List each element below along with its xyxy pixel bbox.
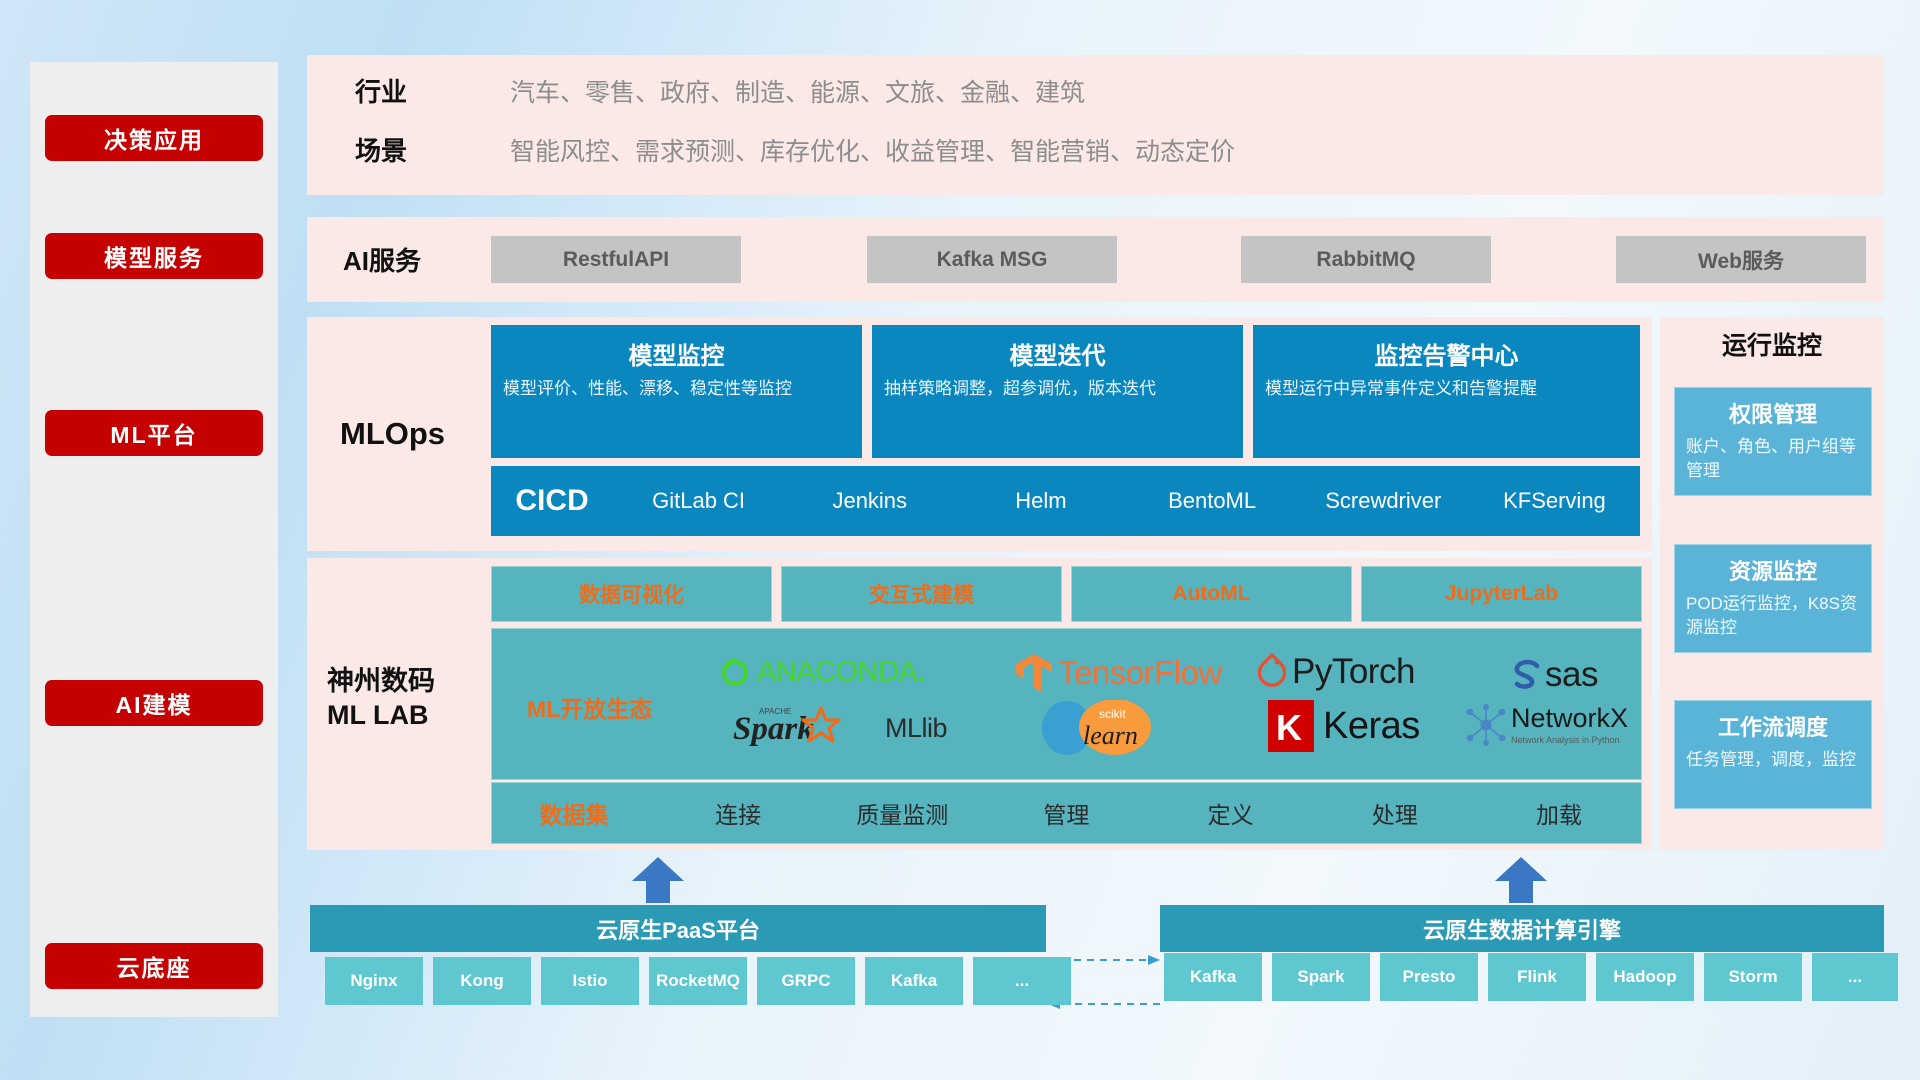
chip-label: Presto [1403,968,1456,987]
dataset-label: 数据集 [492,796,656,830]
engine-chip-kafka[interactable]: Kafka [1164,953,1262,1001]
chip-label: Kafka [1190,968,1236,987]
card-desc: 抽样策略调整，超参调优，版本迭代 [884,378,1231,401]
chip-label: Istio [573,972,608,991]
dataset-item-quality-monitoring[interactable]: 质量监测 [820,796,984,830]
anaconda-icon [718,655,752,689]
ml-lab-tab-data-visualization[interactable]: 数据可视化 [491,566,772,622]
chip-label: Kafka [891,972,937,991]
sidebar-label: 云底座 [117,949,192,983]
card-title: 模型迭代 [872,336,1243,371]
tab-label: 数据可视化 [579,579,684,609]
dataset-item-management[interactable]: 管理 [984,796,1148,830]
card-title: 模型监控 [491,336,862,371]
ml-lab-line2: ML LAB [327,699,435,733]
paas-chip-grpc[interactable]: GRPC [757,957,855,1005]
ai-service-chip-web-service[interactable]: Web服务 [1616,236,1866,283]
chip-label: Storm [1728,968,1777,987]
cicd-item-jenkins[interactable]: Jenkins [784,489,955,513]
sas-logo: sas [1510,655,1598,695]
industry-values: 汽车、零售、政府、制造、能源、文旅、金融、建筑 [510,78,1085,108]
engine-chip-presto[interactable]: Presto [1380,953,1478,1001]
ai-service-chip-restfulapi[interactable]: RestfulAPI [491,236,741,283]
card-desc: 模型评价、性能、漂移、稳定性等监控 [503,378,850,401]
dataset-item-definition[interactable]: 定义 [1149,796,1313,830]
sidebar-label: AI建模 [116,686,193,720]
bar-label: 云原生数据计算引擎 [1423,913,1621,945]
engine-chip-flink[interactable]: Flink [1488,953,1586,1001]
card-title: 权限管理 [1675,397,1871,429]
monitoring-card-permission[interactable]: 权限管理 账户、角色、用户组等管理 [1674,387,1872,496]
mlops-label: MLOps [340,415,445,454]
sidebar-label: 模型服务 [104,239,204,273]
mlops-card-alert-center[interactable]: 监控告警中心 模型运行中异常事件定义和告警提醒 [1253,325,1640,458]
bar-label: 云原生PaaS平台 [596,913,760,945]
tensorflow-icon [1014,652,1054,694]
decision-layer-band [307,55,1884,195]
arrow-up-data-engine [1493,857,1549,903]
monitoring-card-resource[interactable]: 资源监控 POD运行监控，K8S资源监控 [1674,544,1872,653]
chip-label: Flink [1517,968,1557,987]
chip-label: Kong [460,972,503,991]
scenario-values: 智能风控、需求预测、库存优化、收益管理、智能营销、动态定价 [510,137,1235,167]
engine-chip-more[interactable]: ... [1812,953,1898,1001]
chip-label: Web服务 [1698,245,1784,275]
anaconda-wordmark: ANACONDA. [757,656,925,689]
sas-wordmark: sas [1545,655,1598,695]
sas-icon [1510,657,1544,693]
ml-lab-tab-jupyterlab[interactable]: JupyterLab [1361,566,1642,622]
keras-wordmark: Keras [1323,705,1420,748]
cicd-item-helm[interactable]: Helm [955,489,1126,513]
chip-label: RestfulAPI [563,248,669,272]
keras-icon: K [1268,700,1314,752]
paas-chip-more[interactable]: ... [973,957,1071,1005]
chip-label: RocketMQ [656,972,740,991]
cicd-row: CICD GitLab CI Jenkins Helm BentoML Scre… [491,466,1640,536]
dataset-item-connect[interactable]: 连接 [656,796,820,830]
svg-text:Spark: Spark [733,711,814,747]
anaconda-logo: ANACONDA. [718,655,925,689]
sidebar-item-model-service[interactable]: 模型服务 [45,233,263,279]
sidebar-label: ML平台 [110,416,197,450]
ml-ecosystem-label: ML开放生态 [527,690,652,724]
engine-chip-spark[interactable]: Spark [1272,953,1370,1001]
paas-chip-kong[interactable]: Kong [433,957,531,1005]
mllib-wordmark: MLlib [885,713,947,744]
data-engine-bar: 云原生数据计算引擎 [1160,905,1884,952]
ml-lab-tab-interactive-modeling[interactable]: 交互式建模 [781,566,1062,622]
cicd-item-gitlab-ci[interactable]: GitLab CI [613,489,784,513]
industry-label: 行业 [355,76,407,109]
ml-lab-label: 神州数码 ML LAB [327,665,435,733]
networkx-subtitle: Network Analysis in Python [1511,735,1628,745]
keras-logo: K Keras [1268,700,1420,752]
svg-text:K: K [1276,707,1302,748]
networkx-icon [1464,703,1508,747]
sidebar-item-cloud-foundation[interactable]: 云底座 [45,943,263,989]
chip-label: ... [1015,972,1029,991]
sidebar-item-ml-platform[interactable]: ML平台 [45,410,263,456]
monitoring-title: 运行监控 [1660,326,1884,362]
ai-service-chip-rabbitmq[interactable]: RabbitMQ [1241,236,1491,283]
paas-chip-istio[interactable]: Istio [541,957,639,1005]
pytorch-logo: PyTorch [1256,652,1415,692]
sidebar-label: 决策应用 [104,121,204,155]
dataset-item-loading[interactable]: 加载 [1477,796,1641,830]
scikit-learn-logo: scikit learn [1037,700,1227,756]
dataset-item-processing[interactable]: 处理 [1313,796,1477,830]
cicd-label: CICD [491,484,613,518]
paas-chip-rocketmq[interactable]: RocketMQ [649,957,747,1005]
paas-chip-kafka[interactable]: Kafka [865,957,963,1005]
arrow-up-paas [630,857,686,903]
ml-lab-line1: 神州数码 [327,665,435,699]
svg-text:learn: learn [1083,721,1138,750]
paas-platform-bar: 云原生PaaS平台 [310,905,1046,952]
mlops-card-model-monitoring[interactable]: 模型监控 模型评价、性能、漂移、稳定性等监控 [491,325,862,458]
tab-label: 交互式建模 [869,579,974,609]
cicd-item-bentoml[interactable]: BentoML [1127,489,1298,513]
card-title: 监控告警中心 [1253,336,1640,371]
spark-icon: Spark APACHE [733,705,883,751]
tensorflow-wordmark: TensorFlow [1058,654,1222,692]
tab-label: AutoML [1172,582,1250,606]
engine-chip-storm[interactable]: Storm [1704,953,1802,1001]
sidebar-item-ai-modeling[interactable]: AI建模 [45,680,263,726]
chip-label: Hadoop [1613,968,1676,987]
ai-service-chip-kafka-msg[interactable]: Kafka MSG [867,236,1117,283]
pytorch-icon [1256,652,1288,692]
card-desc: 模型运行中异常事件定义和告警提醒 [1265,378,1628,401]
chip-label: ... [1848,968,1862,987]
paas-chip-nginx[interactable]: Nginx [325,957,423,1005]
networkx-logo: NetworkX Network Analysis in Python [1464,703,1628,747]
left-rail [30,62,278,1017]
scikit-learn-icon: scikit learn [1037,700,1227,756]
card-desc: 账户、角色、用户组等管理 [1686,435,1860,483]
ml-lab-tab-automl[interactable]: AutoML [1071,566,1352,622]
card-title: 工作流调度 [1675,710,1871,742]
svg-text:APACHE: APACHE [759,707,791,716]
card-desc: 任务管理，调度，监控 [1686,748,1860,772]
chip-label: Kafka MSG [937,248,1048,272]
networkx-wordmark: NetworkX [1511,705,1628,732]
dataset-row: 数据集 连接 质量监测 管理 定义 处理 加载 [491,782,1642,844]
card-title: 资源监控 [1675,554,1871,586]
tab-label: JupyterLab [1445,582,1558,606]
chip-label: GRPC [781,972,830,991]
monitoring-card-workflow[interactable]: 工作流调度 任务管理，调度，监控 [1674,700,1872,809]
ai-service-label: AI服务 [343,245,421,278]
cicd-item-kfserving[interactable]: KFServing [1469,489,1640,513]
scenario-label: 场景 [355,135,407,168]
chip-label: Nginx [350,972,397,991]
cicd-item-screwdriver[interactable]: Screwdriver [1298,489,1469,513]
card-desc: POD运行监控，K8S资源监控 [1686,592,1860,640]
chip-label: RabbitMQ [1316,248,1415,272]
spark-mllib-logo: Spark APACHE MLlib [733,705,947,751]
sidebar-item-decision-application[interactable]: 决策应用 [45,115,263,161]
mlops-card-model-iteration[interactable]: 模型迭代 抽样策略调整，超参调优，版本迭代 [872,325,1243,458]
architecture-diagram: 决策应用 模型服务 ML平台 AI建模 云底座 行业 汽车、零售、政府、制造、能… [0,0,1920,1080]
pytorch-wordmark: PyTorch [1292,652,1415,692]
tensorflow-logo: TensorFlow [1014,652,1222,694]
svg-text:scikit: scikit [1099,707,1126,721]
chip-label: Spark [1297,968,1344,987]
engine-chip-hadoop[interactable]: Hadoop [1596,953,1694,1001]
